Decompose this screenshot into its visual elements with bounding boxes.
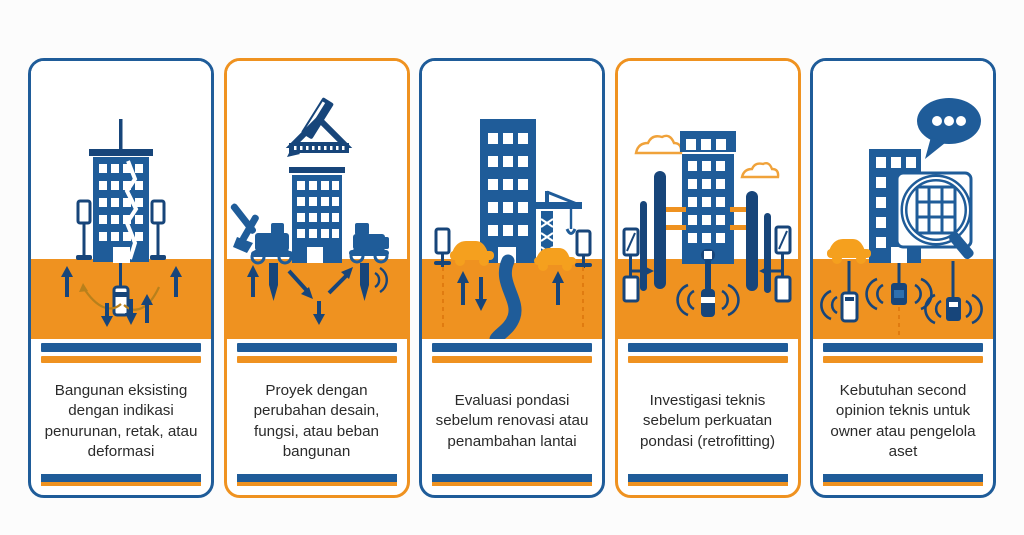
thin-rod-right [764,213,771,293]
thin-rod-left [640,201,647,291]
sensor-pole-left [434,229,451,267]
load-arrows [247,265,353,325]
illustration-design-change [227,61,407,339]
borehole-path [496,261,515,339]
divider-orange-bar [432,356,592,363]
excavator-icon [229,202,292,263]
card-investigasi-teknis[interactable]: Investigasi teknis sebelum perkuatan pon… [615,58,801,498]
buried-sensor-center [891,283,907,305]
divider-blue-bar [823,343,983,352]
card3-graphics [422,61,602,339]
ground-probe-right [360,263,369,301]
card4-graphics [618,61,798,339]
footer-stripes-1 [31,474,211,495]
base-marker [897,249,904,263]
footer-stripes-5 [813,474,993,495]
divider-3 [422,339,602,363]
card2-graphics [227,61,407,339]
divider-orange-bar [41,356,201,363]
divider-orange-bar [237,356,397,363]
divider-blue-bar [237,343,397,352]
card-row: Bangunan eksisting dengan indikasi penur… [28,58,996,498]
divider-2 [227,339,407,363]
caption-area-1: Bangunan eksisting dengan indikasi penur… [31,363,211,474]
support-rod-left [654,171,666,289]
card-caption: Bangunan eksisting dengan indikasi penur… [40,381,202,461]
footer-stripes-2 [227,474,407,495]
divider-blue-bar [41,343,201,352]
footer-blue-bar [823,474,983,482]
support-rod-right [746,191,758,291]
wheel-loader-icon [349,223,389,262]
divider-blue-bar [628,343,788,352]
antenna-icon [119,119,123,151]
footer-blue-bar [432,474,592,482]
footer-blue-bar [41,474,201,482]
card-caption: Evaluasi pondasi sebelum renovasi atau p… [431,391,593,451]
sensor-pole-right [152,201,164,223]
footer-blue-bar [628,474,788,482]
signal-waves [375,268,387,292]
cloud-right-icon [742,163,778,177]
footer-orange-bar [237,482,397,486]
side-sensor-right [759,227,790,301]
footer-orange-bar [823,482,983,486]
side-sensor-left [624,229,654,301]
divider-blue-bar [432,343,592,352]
card-bangunan-eksisting[interactable]: Bangunan eksisting dengan indikasi penur… [28,58,214,498]
card-second-opinion[interactable]: Kebutuhan second opinion teknis untuk ow… [810,58,996,498]
footer-stripes-3 [422,474,602,495]
illustration-foundation-evaluation [422,61,602,339]
footer-orange-bar [628,482,788,486]
building-entrance [307,247,323,263]
footer-stripes-4 [618,474,798,495]
caption-area-5: Kebutuhan second opinion teknis untuk ow… [813,363,993,474]
infographic-canvas: Bangunan eksisting dengan indikasi penur… [0,0,1024,535]
caption-area-3: Evaluasi pondasi sebelum renovasi atau p… [422,363,602,474]
roof-slab [289,167,345,173]
card1-graphics [31,61,211,339]
footer-orange-bar [432,482,592,486]
ground-probe-left [269,263,278,301]
sensor-pole-left [78,201,90,223]
divider-orange-bar [628,356,788,363]
speech-bubble-icon [917,98,981,159]
illustration-second-opinion [813,61,993,339]
car-right [534,248,576,271]
divider-5 [813,339,993,363]
building-entrance [113,247,130,263]
divider-1 [31,339,211,363]
card-caption: Investigasi teknis sebelum perkuatan pon… [627,391,789,451]
card5-graphics [813,61,993,339]
ground-probe [114,287,128,315]
buried-sensor-right [946,297,961,321]
car-icon [827,239,871,264]
footer-orange-bar [41,482,201,486]
sensor-pole-right [575,231,592,268]
illustration-retrofitting [618,61,798,339]
card-evaluasi-pondasi[interactable]: Evaluasi pondasi sebelum renovasi atau p… [419,58,605,498]
buried-sensor-left [842,293,857,321]
roof-slab [89,149,153,156]
caption-area-2: Proyek dengan perubahan desain, fungsi, … [227,363,407,474]
cloud-left-icon [636,136,681,153]
center-probe [701,249,715,317]
footer-blue-bar [237,474,397,482]
illustration-cracked-building [31,61,211,339]
divider-4 [618,339,798,363]
caption-area-4: Investigasi teknis sebelum perkuatan pon… [618,363,798,474]
card-caption: Proyek dengan perubahan desain, fungsi, … [236,381,398,461]
card-caption: Kebutuhan second opinion teknis untuk ow… [822,381,984,461]
card-perubahan-desain[interactable]: Proyek dengan perubahan desain, fungsi, … [224,58,410,498]
roof-slab [680,131,736,136]
divider-orange-bar [823,356,983,363]
